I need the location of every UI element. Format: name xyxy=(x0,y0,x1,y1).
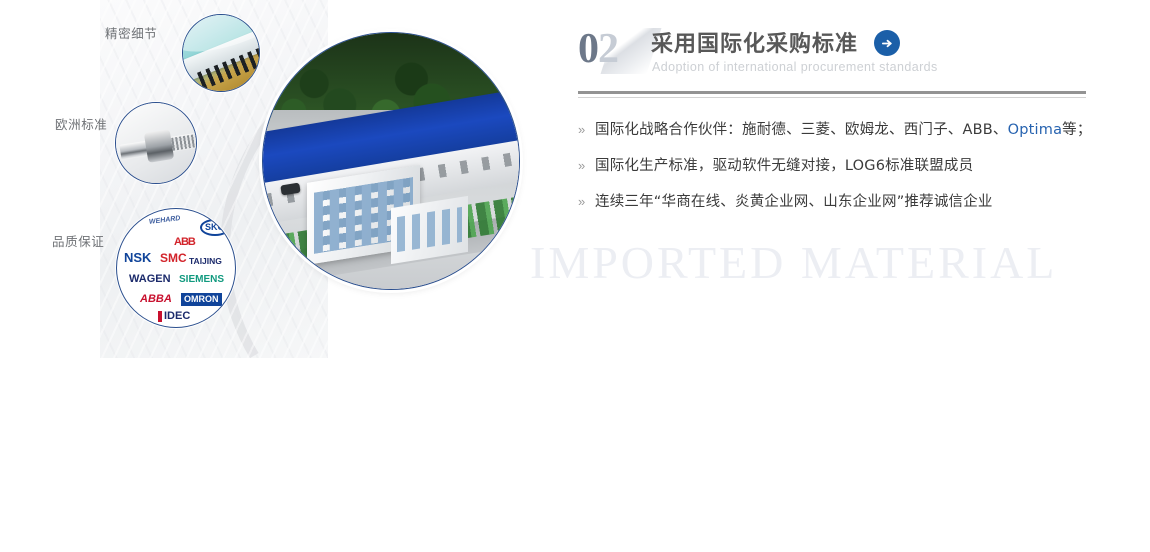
chevron-double-right-icon: » xyxy=(578,120,595,140)
list-item: » 连续三年“华商在线、炎黄企业网、山东企业网”推荐诚信企业 xyxy=(578,192,1098,212)
brand-logo-abb: ABB xyxy=(174,237,195,248)
brand-logo-abba: ABBA xyxy=(140,294,172,305)
feature-label-quality-assurance: 品质保证 xyxy=(52,231,104,250)
screw-nut xyxy=(144,129,174,163)
divider-thin-line xyxy=(578,97,1086,98)
divider-thick-line xyxy=(578,91,1086,94)
bullet-text-pre: 连续三年“华商在线、炎黄企业网、山东企业网”推荐诚信企业 xyxy=(595,194,993,210)
chevron-double-right-icon: » xyxy=(578,192,595,212)
bullet-text: 连续三年“华商在线、炎黄企业网、山东企业网”推荐诚信企业 xyxy=(595,192,993,212)
swoosh-shadow xyxy=(0,372,1150,422)
brand-logo-smc: SMC xyxy=(160,252,187,264)
content-column: 02 采用国际化采购标准 Adoption of international p… xyxy=(578,22,1098,228)
section-header: 02 采用国际化采购标准 Adoption of international p… xyxy=(578,22,1098,84)
list-item: » 国际化战略合作伙伴：施耐德、三菱、欧姆龙、西门子、ABB、Optima等； xyxy=(578,120,1098,140)
bullet-text: 国际化生产标准，驱动软件无缝对接，LOG6标准联盟成员 xyxy=(595,156,973,176)
bullet-text-highlight: Optima xyxy=(1008,122,1063,138)
section-number: 02 xyxy=(578,28,618,70)
brand-logo-taijing: TAIJING xyxy=(189,257,222,266)
brand-logo-wagen: WAGEN xyxy=(129,274,171,285)
factory-photo-circle xyxy=(262,32,520,290)
bullet-text-pre: 国际化生产标准，驱动软件无缝对接，LOG6标准联盟成员 xyxy=(595,158,973,174)
gear-teeth-closeup-icon xyxy=(182,14,260,92)
feature-label-european-standard: 欧洲标准 xyxy=(55,114,107,133)
chevron-double-right-icon: » xyxy=(578,156,595,176)
brand-logo-sko: SKO xyxy=(200,219,230,236)
page-subtitle: Adoption of international procurement st… xyxy=(652,60,938,74)
page-title: 采用国际化采购标准 xyxy=(651,26,858,58)
bullet-text-pre: 国际化战略合作伙伴：施耐德、三菱、欧姆龙、西门子、ABB、 xyxy=(595,122,1008,138)
arrow-right-circle-icon[interactable] xyxy=(874,30,900,56)
header-divider xyxy=(578,91,1086,98)
bottom-swoosh-decoration xyxy=(0,372,1150,430)
brand-logo-nsk: NSK xyxy=(124,251,151,264)
brand-logo-siemens: SIEMENS xyxy=(179,275,224,285)
brand-logo-wehard: WEHARD xyxy=(149,215,181,226)
brand-logo-omron: OMRON xyxy=(181,293,222,306)
brand-logos-icon: WEHARD SKO ABB NSK SMC TAIJING WAGEN SIE… xyxy=(116,208,236,328)
watermark-text: IMPORTED MATERIAL xyxy=(530,240,1057,286)
list-item: » 国际化生产标准，驱动软件无缝对接，LOG6标准联盟成员 xyxy=(578,156,1098,176)
bullet-text-post: 等； xyxy=(1062,122,1091,138)
feature-bullet-list: » 国际化战略合作伙伴：施耐德、三菱、欧姆龙、西门子、ABB、Optima等； … xyxy=(578,120,1098,212)
section-number-light: 2 xyxy=(598,26,618,72)
section-number-bold: 0 xyxy=(578,26,598,72)
feature-label-precision: 精密细节 xyxy=(105,23,157,42)
ball-screw-icon xyxy=(115,102,197,184)
swoosh-highlight xyxy=(0,372,1150,430)
brand-logo-idec: IDEC xyxy=(158,311,190,322)
bullet-text: 国际化战略合作伙伴：施耐德、三菱、欧姆龙、西门子、ABB、Optima等； xyxy=(595,120,1092,140)
